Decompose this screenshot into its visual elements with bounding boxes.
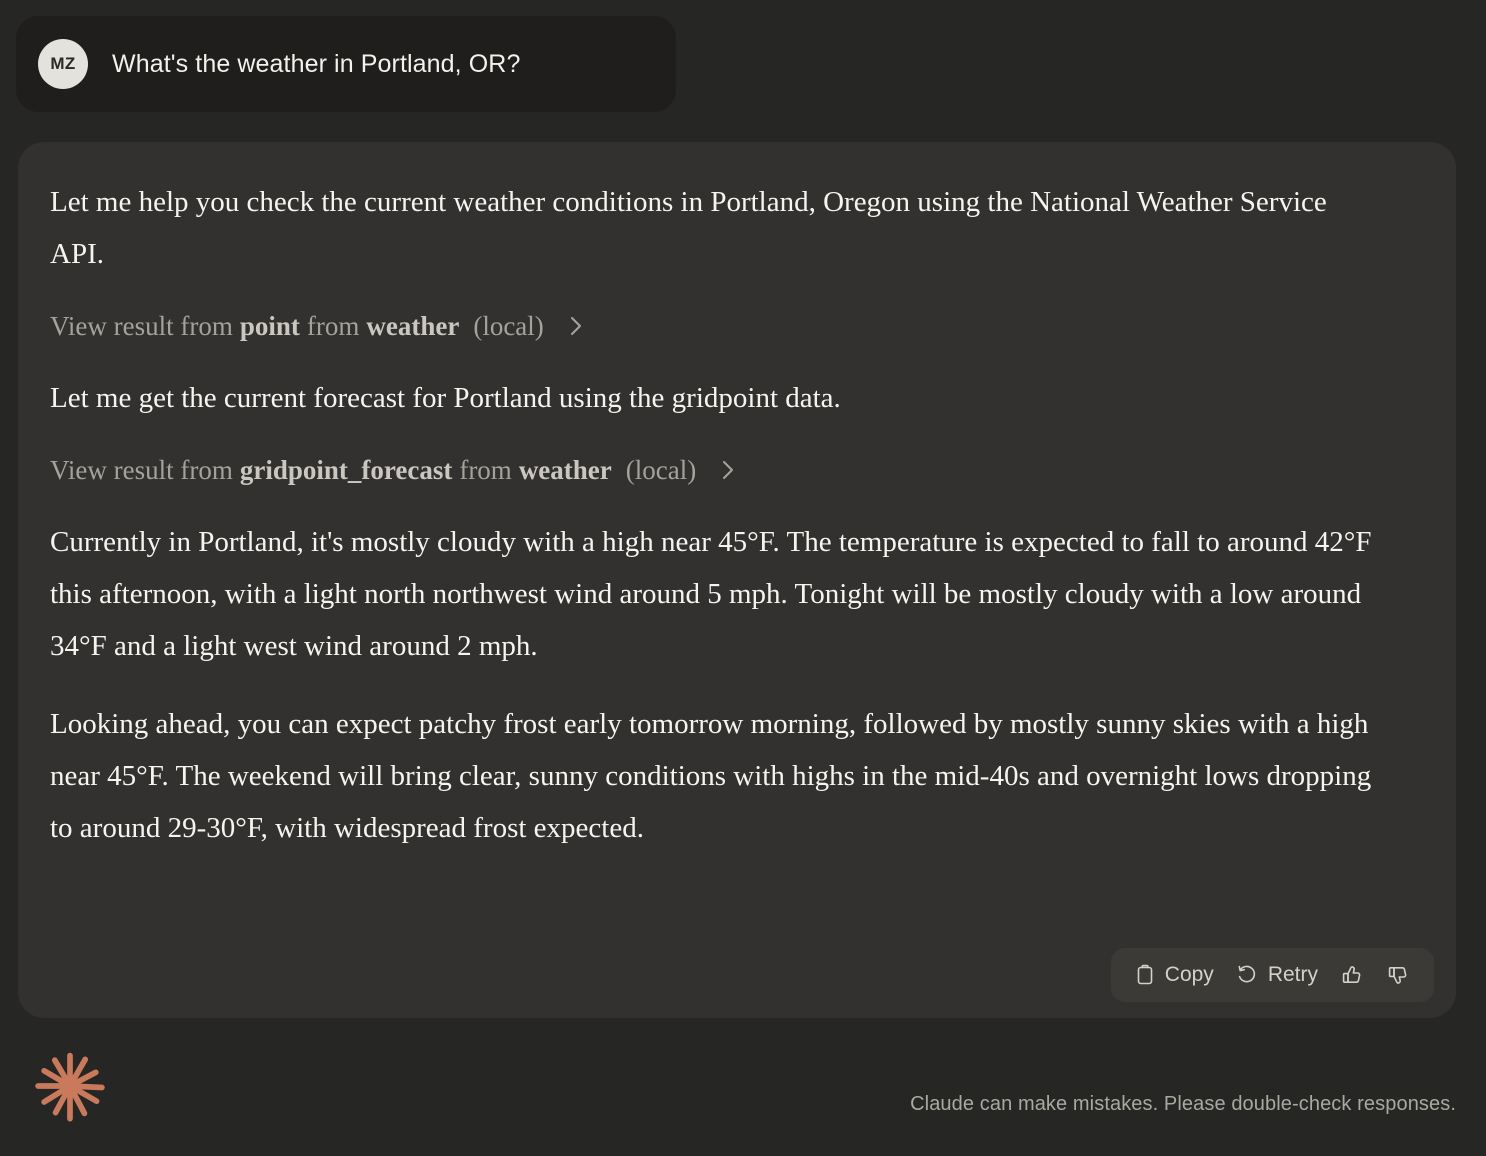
tool-name-gridpoint-forecast: gridpoint_forecast: [240, 450, 452, 490]
refresh-ccw-icon: [1236, 964, 1258, 986]
tool-link-mid-text: from: [459, 450, 511, 490]
tool-link-lead-text: View result from: [50, 306, 233, 346]
tool-name-point: point: [240, 306, 300, 346]
disclaimer-text: Claude can make mistakes. Please double-…: [910, 1093, 1456, 1116]
assistant-paragraph-4: Looking ahead, you can expect patchy fro…: [50, 698, 1380, 854]
assistant-message-card: Let me help you check the current weathe…: [18, 142, 1456, 1018]
tool-scope-label: (local): [473, 306, 543, 346]
chevron-right-icon[interactable]: [568, 313, 584, 339]
tool-scope-label: (local): [626, 450, 696, 490]
assistant-paragraph-1: Let me help you check the current weathe…: [50, 176, 1380, 280]
tool-link-mid-text: from: [307, 306, 359, 346]
retry-button-label: Retry: [1268, 963, 1318, 987]
tool-result-link-gridpoint-forecast[interactable]: View result from gridpoint_forecast from…: [50, 450, 736, 490]
thumbs-up-button[interactable]: [1332, 958, 1372, 992]
copy-button-label: Copy: [1165, 963, 1214, 987]
retry-button[interactable]: Retry: [1228, 957, 1326, 993]
avatar-initials: MZ: [50, 54, 75, 74]
assistant-paragraph-2: Let me get the current forecast for Port…: [50, 372, 1380, 424]
message-actions-toolbar: Copy Retry: [1111, 948, 1434, 1002]
user-message-text: What's the weather in Portland, OR?: [112, 50, 520, 79]
user-message-bubble: MZ What's the weather in Portland, OR?: [16, 16, 676, 112]
thumbs-down-button[interactable]: [1378, 958, 1418, 992]
copy-button[interactable]: Copy: [1127, 957, 1222, 993]
tool-server-name: weather: [519, 450, 612, 490]
avatar: MZ: [38, 39, 88, 89]
tool-link-lead-text: View result from: [50, 450, 233, 490]
thumbs-up-icon: [1341, 964, 1363, 986]
thumbs-down-icon: [1387, 964, 1409, 986]
tool-server-name: weather: [366, 306, 459, 346]
claude-starburst-logo: [32, 1048, 108, 1124]
clipboard-icon: [1135, 964, 1155, 986]
assistant-paragraph-3: Currently in Portland, it's mostly cloud…: [50, 516, 1380, 672]
chevron-right-icon[interactable]: [720, 457, 736, 483]
tool-result-link-point[interactable]: View result from point from weather (loc…: [50, 306, 584, 346]
